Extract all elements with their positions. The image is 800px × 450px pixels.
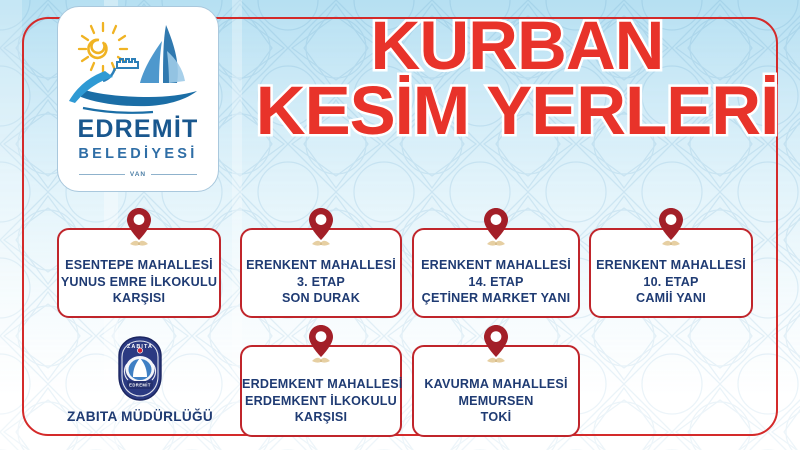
location-line-2: ERDEMKENT İLKOKULU — [242, 393, 400, 410]
logo-rule-left — [79, 174, 125, 175]
background-band-left — [0, 0, 22, 450]
location-line-2: 3. ETAP — [242, 274, 400, 291]
location-line-3: TOKİ — [414, 409, 578, 426]
map-pin-icon — [308, 324, 334, 370]
zabita-emblem-icon: ZABITA EDREMİT BELEDİYESİ — [113, 336, 167, 402]
logo-rule-right — [151, 174, 197, 175]
location-line-1: KAVURMA MAHALLESİ — [414, 376, 578, 393]
map-pin-icon — [126, 207, 152, 253]
map-pin-icon — [483, 324, 509, 370]
location-card[interactable]: ERENKENT MAHALLESİ 14. ETAP ÇETİNER MARK… — [412, 228, 580, 318]
location-card-lines: ERDEMKENT MAHALLESİ ERDEMKENT İLKOKULU K… — [242, 376, 400, 426]
municipality-logo-panel: EDREMİT BELEDİYESİ VAN — [57, 6, 219, 192]
location-line-2: MEMURSEN — [414, 393, 578, 410]
location-line-1: ERDEMKENT MAHALLESİ — [242, 376, 400, 393]
logo-city-row: VAN — [79, 171, 197, 178]
location-card[interactable]: ERENKENT MAHALLESİ 10. ETAP CAMİİ YANI — [589, 228, 753, 318]
page-title: KURBAN KESİM YERLERİ — [252, 14, 782, 143]
location-line-3: ÇETİNER MARKET YANI — [414, 290, 578, 307]
zabita-department-block: ZABITA EDREMİT BELEDİYESİ ZABITA MÜDÜRLÜ… — [60, 336, 220, 424]
logo-municipality-name: EDREMİT — [78, 117, 199, 142]
location-line-3: SON DURAK — [242, 290, 400, 307]
location-line-1: ERENKENT MAHALLESİ — [414, 257, 578, 274]
location-line-1: ESENTEPE MAHALLESİ — [59, 257, 219, 274]
logo-city-name: VAN — [130, 171, 146, 178]
headline-line-1: KURBAN — [252, 14, 782, 77]
logo-municipality-subtitle: BELEDİYESİ — [78, 147, 197, 162]
location-card-lines: ERENKENT MAHALLESİ 10. ETAP CAMİİ YANI — [591, 257, 751, 307]
location-line-2: 10. ETAP — [591, 274, 751, 291]
location-line-1: ERENKENT MAHALLESİ — [591, 257, 751, 274]
location-card-lines: ERENKENT MAHALLESİ 3. ETAP SON DURAK — [242, 257, 400, 307]
location-line-3: KARŞISI — [242, 409, 400, 426]
location-line-3: KARŞISI — [59, 290, 219, 307]
headline-line-2: KESİM YERLERİ — [252, 79, 782, 142]
location-line-1: ERENKENT MAHALLESİ — [242, 257, 400, 274]
zabita-department-label: ZABITA MÜDÜRLÜĞÜ — [60, 409, 220, 424]
map-pin-icon — [658, 207, 684, 253]
location-card-lines: ESENTEPE MAHALLESİ YUNUS EMRE İLKOKULU K… — [59, 257, 219, 307]
location-card[interactable]: ERDEMKENT MAHALLESİ ERDEMKENT İLKOKULU K… — [240, 345, 402, 437]
location-card-lines: KAVURMA MAHALLESİ MEMURSEN TOKİ — [414, 376, 578, 426]
location-card[interactable]: KAVURMA MAHALLESİ MEMURSEN TOKİ — [412, 345, 580, 437]
poster-canvas: EDREMİT BELEDİYESİ VAN KURBAN KESİM YERL… — [0, 0, 800, 450]
location-line-2: YUNUS EMRE İLKOKULU — [59, 274, 219, 291]
svg-text:EDREMİT: EDREMİT — [129, 383, 151, 388]
map-pin-icon — [483, 207, 509, 253]
map-pin-icon — [308, 207, 334, 253]
location-line-2: 14. ETAP — [414, 274, 578, 291]
location-card-lines: ERENKENT MAHALLESİ 14. ETAP ÇETİNER MARK… — [414, 257, 578, 307]
location-card[interactable]: ESENTEPE MAHALLESİ YUNUS EMRE İLKOKULU K… — [57, 228, 221, 318]
location-card[interactable]: ERENKENT MAHALLESİ 3. ETAP SON DURAK — [240, 228, 402, 318]
location-line-3: CAMİİ YANI — [591, 290, 751, 307]
sailboat-sun-castle-logo — [63, 11, 213, 121]
